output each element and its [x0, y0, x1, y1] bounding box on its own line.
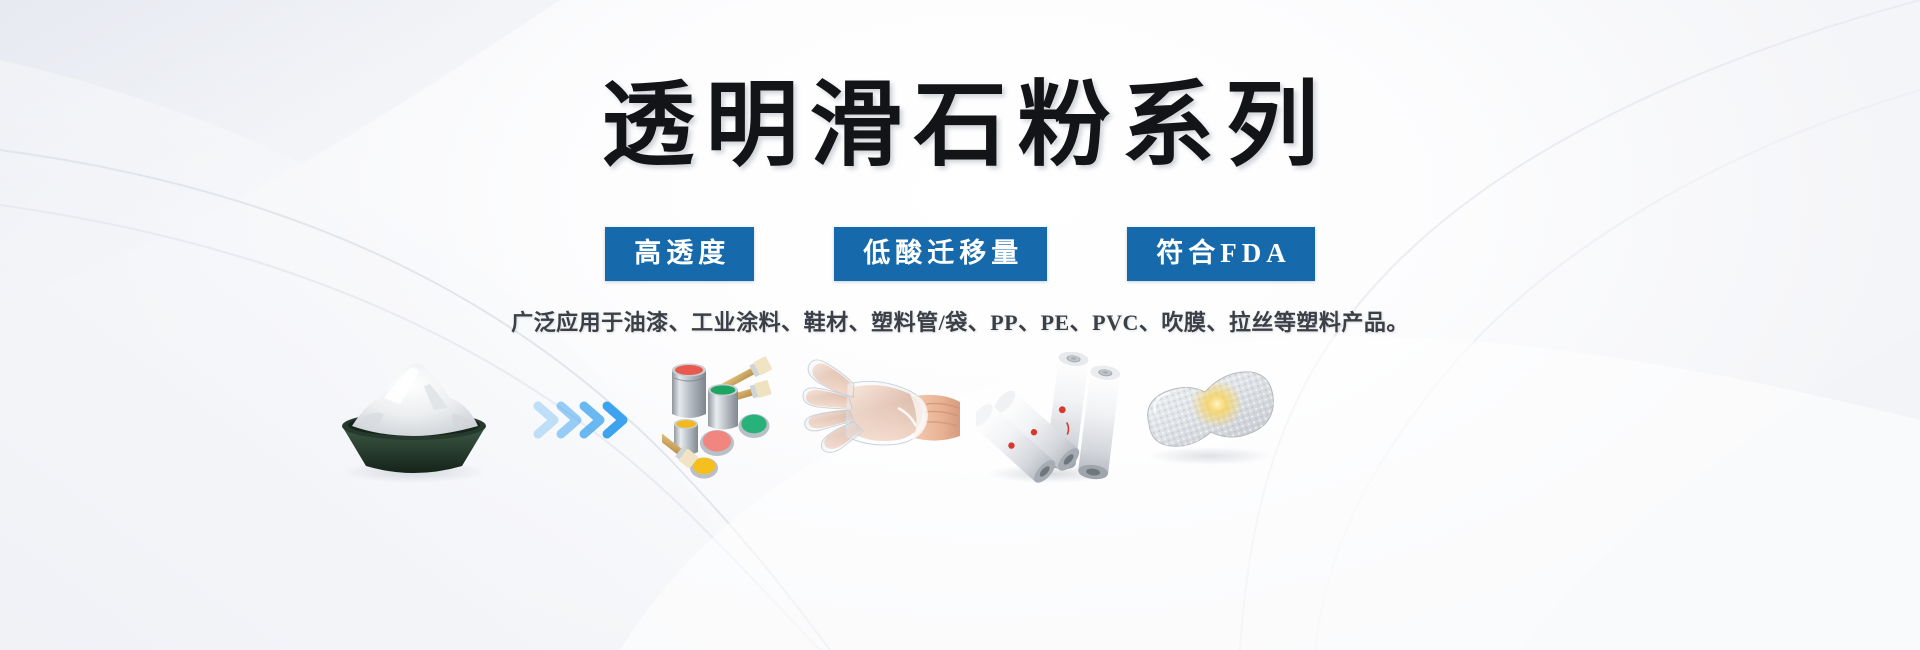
status-badge-transparency: 高透度 [605, 227, 754, 281]
feature-badge-list: 高透度 低酸迁移量 符合FDA [0, 227, 1920, 281]
status-badge-fda-compliant: 符合FDA [1127, 227, 1315, 281]
spacer [782, 352, 802, 487]
plastic-film-rolls-image [976, 352, 1121, 487]
talc-powder-bowl-image [322, 352, 507, 487]
product-banner: 透明滑石粉系列 高透度 低酸迁移量 符合FDA 广泛应用于油漆、工业涂料、鞋材、… [0, 0, 1920, 650]
shoe-sole-image [1135, 352, 1280, 487]
spacer [962, 352, 976, 487]
status-badge-low-acid-migration: 低酸迁移量 [834, 227, 1047, 281]
plastic-glove-hand-image [802, 352, 962, 487]
spacer [634, 352, 662, 487]
paint-cans-image [662, 352, 782, 487]
title-container: 透明滑石粉系列 [0, 78, 1920, 176]
process-arrows-icon [529, 352, 634, 487]
spacer [507, 352, 529, 487]
page-subtitle: 广泛应用于油漆、工业涂料、鞋材、塑料管/袋、PP、PE、PVC、吹膜、拉丝等塑料… [0, 305, 1920, 337]
spacer [1121, 352, 1135, 487]
application-image-strip [322, 352, 1222, 487]
page-title: 透明滑石粉系列 [591, 78, 1330, 176]
